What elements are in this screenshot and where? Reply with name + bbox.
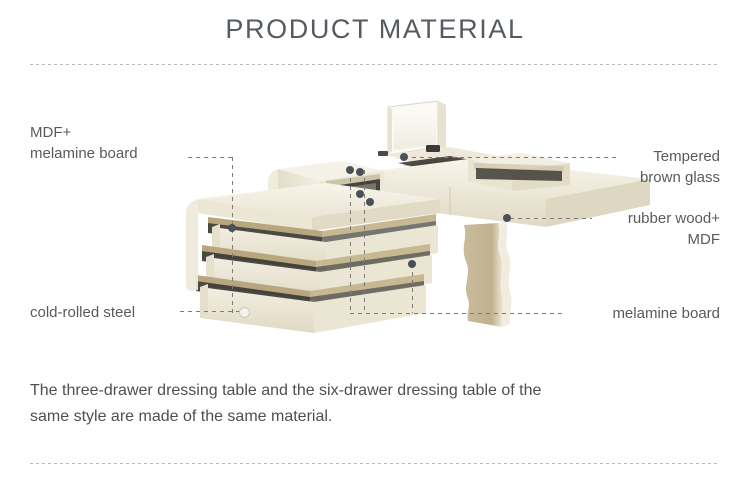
callout-mdf-line1: MDF+ <box>30 122 138 143</box>
leader-mdf-vertical <box>232 157 233 317</box>
divider-bottom <box>30 463 720 464</box>
callout-mdf-line2: melamine board <box>30 143 138 164</box>
dressing-table-svg <box>150 95 650 345</box>
description-line-1: The three-drawer dressing table and the … <box>30 378 690 404</box>
leader-glass-horizontal <box>404 157 618 158</box>
callout-melamine-board: melamine board <box>612 303 720 324</box>
wavy-rubber-wood-leg <box>464 221 512 327</box>
callout-mdf: MDF+ melamine board <box>30 122 138 164</box>
callout-rubber-wood-mdf: rubber wood+ MDF <box>628 208 720 250</box>
description-line-2: same style are made of the same material… <box>30 404 690 430</box>
dot-glass-top <box>400 153 408 161</box>
callout-rubber-line1: rubber wood+ <box>628 208 720 229</box>
divider-top <box>30 64 720 65</box>
leader-mdf-horizontal <box>188 157 233 158</box>
callout-steel-line1: cold-rolled steel <box>30 302 135 323</box>
dot-steel-slide <box>239 307 250 318</box>
dot-mdf-desk-drawer <box>356 168 364 176</box>
dot-melamine-front <box>408 260 416 268</box>
product-material-page: PRODUCT MATERIAL <box>0 0 750 485</box>
leader-steel-horizontal <box>180 311 242 312</box>
leader-melamine-vertical-a <box>350 170 351 313</box>
page-title: PRODUCT MATERIAL <box>0 14 750 45</box>
dot-mdf-chest-top <box>228 224 236 232</box>
callout-melamine-line1: melamine board <box>612 303 720 324</box>
callout-rubber-line2: MDF <box>628 229 720 250</box>
dot-glass-inner <box>366 198 374 206</box>
chest-side <box>186 212 198 291</box>
dot-melamine-drawer <box>346 166 354 174</box>
callout-cold-rolled-steel: cold-rolled steel <box>30 302 135 323</box>
dot-mdf-desk-side <box>356 190 364 198</box>
callout-glass-line2: brown glass <box>640 167 720 188</box>
callout-tempered-brown-glass: Tempered brown glass <box>640 146 720 188</box>
leader-melamine-vertical-b <box>364 170 365 313</box>
product-illustration <box>150 95 650 345</box>
description-paragraph: The three-drawer dressing table and the … <box>30 378 690 430</box>
dot-rubber-leg <box>503 214 511 222</box>
callout-glass-line1: Tempered <box>640 146 720 167</box>
leader-melamine-horizontal <box>350 313 565 314</box>
leader-rubber-horizontal <box>510 218 592 219</box>
leader-melamine-vertical-c <box>412 264 413 313</box>
